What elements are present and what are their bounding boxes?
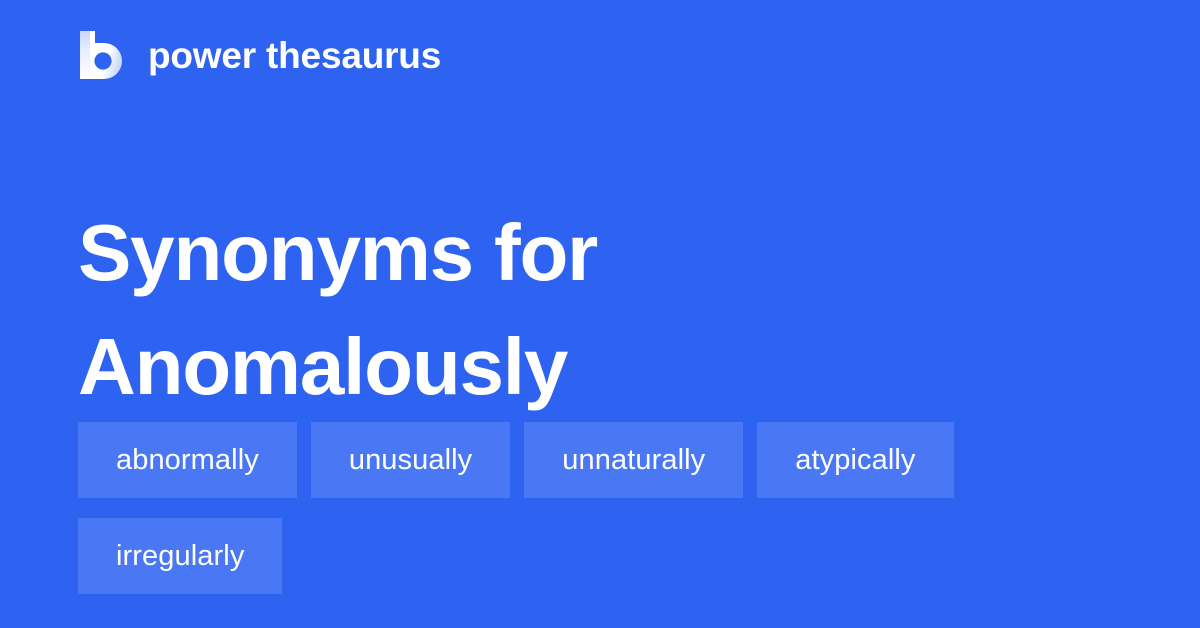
synonym-chip-list: abnormally unusually unnaturally atypica…	[78, 422, 1128, 594]
power-thesaurus-logo-icon	[78, 30, 126, 80]
synonym-chip[interactable]: irregularly	[78, 518, 282, 594]
page-title: Synonyms for Anomalously	[78, 196, 1128, 424]
brand-lockup[interactable]: power thesaurus	[78, 28, 441, 82]
share-card: power thesaurus Synonyms for Anomalously…	[0, 0, 1200, 628]
synonym-chip[interactable]: unusually	[311, 422, 510, 498]
headline-line-1: Synonyms for	[78, 196, 1128, 310]
headline-term: Anomalously	[78, 310, 1128, 424]
synonym-chip[interactable]: abnormally	[78, 422, 297, 498]
synonym-chip[interactable]: atypically	[757, 422, 953, 498]
synonym-chip[interactable]: unnaturally	[524, 422, 743, 498]
brand-name: power thesaurus	[148, 37, 441, 74]
